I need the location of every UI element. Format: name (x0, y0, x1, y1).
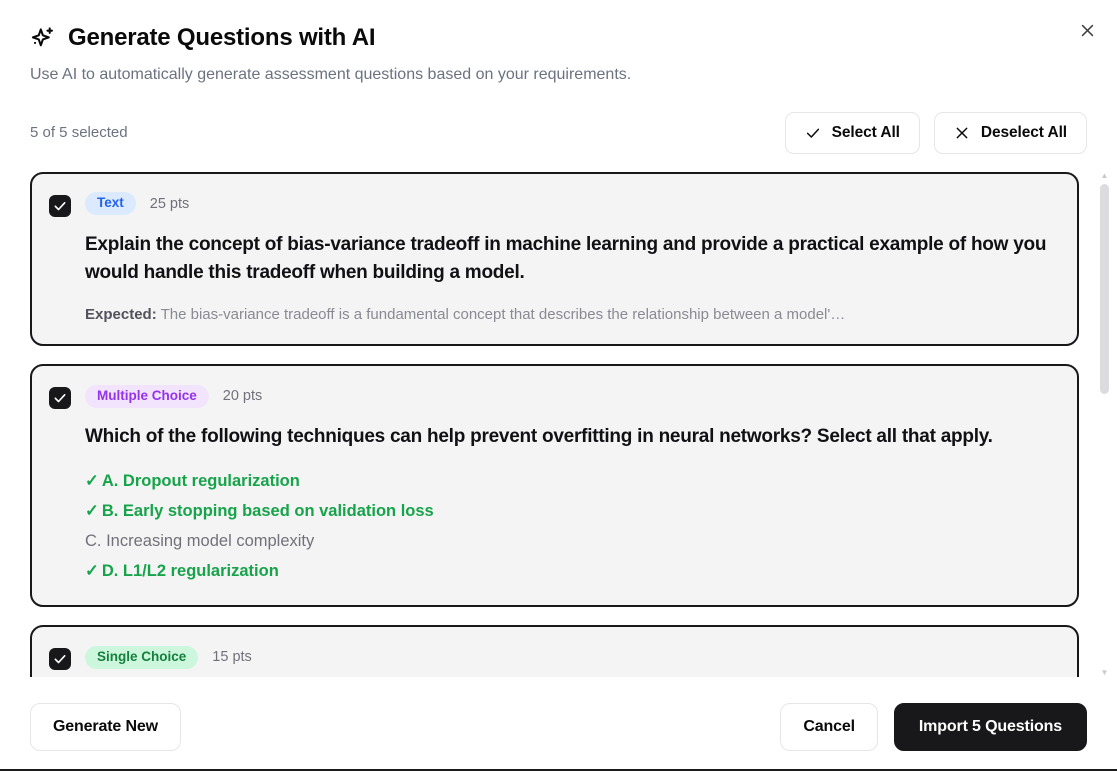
close-button[interactable] (1071, 14, 1103, 46)
question-card[interactable]: Single Choice15 ptsWhen implementing a r… (30, 625, 1079, 676)
question-card[interactable]: Text25 ptsExplain the concept of bias-va… (30, 172, 1079, 347)
deselect-all-label: Deselect All (981, 124, 1067, 142)
option-item: ✓A. Dropout regularization (85, 466, 1057, 496)
option-item: C. Increasing model complexity (85, 526, 1057, 556)
question-checkbox[interactable] (49, 195, 71, 217)
question-points: 20 pts (223, 388, 263, 404)
option-item: ✓B. Early stopping based on validation l… (85, 496, 1057, 526)
option-label: D. L1/L2 regularization (102, 562, 279, 580)
scrollbar[interactable]: ▲ ▼ (1098, 172, 1111, 677)
question-body: Single Choice15 ptsWhen implementing a r… (85, 644, 1057, 676)
check-icon (53, 199, 67, 213)
dialog-title-row: Generate Questions with AI (30, 24, 1087, 52)
selection-bar: 5 of 5 selected Select All Deselect All (0, 86, 1117, 154)
check-icon (53, 391, 67, 405)
sparkles-icon (30, 26, 56, 52)
check-icon: ✓ (85, 502, 99, 520)
question-checkbox[interactable] (49, 648, 71, 670)
dialog-subtitle: Use AI to automatically generate assessm… (30, 64, 1087, 86)
scroll-down-arrow[interactable]: ▼ (1101, 669, 1109, 677)
option-list: ✓A. Dropout regularization✓B. Early stop… (85, 466, 1057, 586)
question-body: Multiple Choice20 ptsWhich of the follow… (85, 383, 1057, 586)
question-points: 15 pts (212, 649, 252, 665)
dialog-footer: Generate New Cancel Import 5 Questions (0, 689, 1117, 751)
check-icon (53, 652, 67, 666)
question-checkbox[interactable] (49, 387, 71, 409)
question-text: Which of the following techniques can he… (85, 423, 1057, 452)
question-card[interactable]: Multiple Choice20 ptsWhich of the follow… (30, 364, 1079, 607)
option-label: A. Dropout regularization (102, 472, 300, 490)
check-icon: ✓ (85, 472, 99, 490)
scroll-up-arrow[interactable]: ▲ (1101, 172, 1109, 180)
question-body: Text25 ptsExplain the concept of bias-va… (85, 191, 1057, 326)
deselect-all-button[interactable]: Deselect All (934, 112, 1087, 154)
option-label: C. Increasing model complexity (85, 532, 314, 550)
question-meta: Multiple Choice20 pts (85, 383, 1057, 409)
check-icon (805, 125, 821, 141)
question-points: 25 pts (150, 196, 190, 212)
selection-count: 5 of 5 selected (30, 124, 128, 141)
question-meta: Single Choice15 pts (85, 644, 1057, 670)
generate-new-button[interactable]: Generate New (30, 703, 181, 751)
check-icon: ✓ (85, 562, 99, 580)
expected-answer: Expected: The bias-variance tradeoff is … (85, 304, 1057, 325)
select-all-label: Select All (832, 124, 900, 142)
dialog-header: Generate Questions with AI Use AI to aut… (0, 0, 1117, 86)
question-list-wrapper: Text25 ptsExplain the concept of bias-va… (0, 172, 1117, 677)
question-list[interactable]: Text25 ptsExplain the concept of bias-va… (0, 172, 1117, 677)
generate-questions-dialog: Generate Questions with AI Use AI to aut… (0, 0, 1117, 771)
question-type-badge: Single Choice (85, 646, 198, 669)
close-icon (1079, 22, 1096, 39)
question-meta: Text25 pts (85, 191, 1057, 217)
close-icon (954, 125, 970, 141)
page-title: Generate Questions with AI (68, 25, 375, 51)
cancel-button[interactable]: Cancel (780, 703, 878, 751)
option-item: ✓D. L1/L2 regularization (85, 556, 1057, 586)
option-label: B. Early stopping based on validation lo… (102, 502, 434, 520)
question-type-badge: Text (85, 192, 136, 215)
import-questions-button[interactable]: Import 5 Questions (894, 703, 1087, 751)
expected-text: The bias-variance tradeoff is a fundamen… (157, 306, 846, 323)
scrollbar-thumb[interactable] (1100, 184, 1109, 394)
selection-actions: Select All Deselect All (785, 112, 1087, 154)
question-text: Explain the concept of bias-variance tra… (85, 231, 1057, 289)
question-type-badge: Multiple Choice (85, 385, 209, 408)
footer-actions: Cancel Import 5 Questions (780, 703, 1087, 751)
expected-label: Expected: (85, 306, 157, 323)
select-all-button[interactable]: Select All (785, 112, 920, 154)
